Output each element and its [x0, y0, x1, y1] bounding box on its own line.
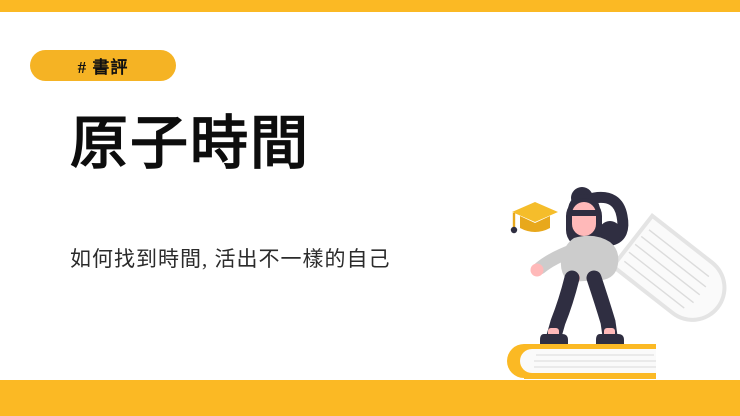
leaning-book — [610, 213, 740, 336]
graduation-cap-icon — [511, 202, 558, 233]
student-on-books-illustration — [490, 180, 740, 385]
book-review-slide: # 書評 原子時間 如何找到時間, 活出不一樣的自己 — [0, 0, 740, 416]
category-tag-label: # 書評 — [78, 53, 129, 78]
page-title: 原子時間 — [70, 112, 310, 176]
category-tag-badge[interactable]: # 書評 — [30, 50, 176, 81]
open-book-platform — [507, 344, 656, 379]
page-subtitle: 如何找到時間, 活出不一樣的自己 — [70, 243, 391, 273]
top-accent-bar — [0, 0, 740, 12]
bottom-accent-bar — [0, 380, 740, 416]
